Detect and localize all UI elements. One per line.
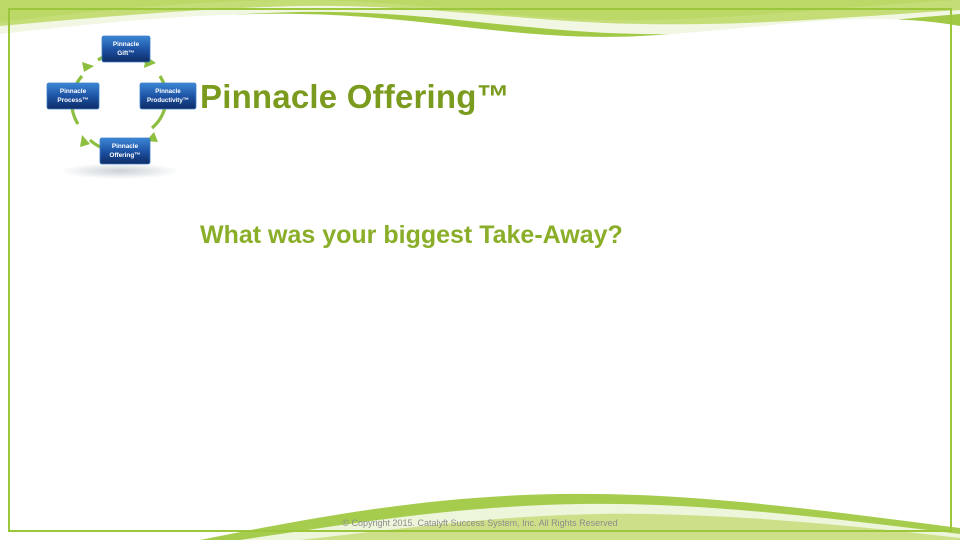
diagram-node-offering-line2: Offering™ — [109, 152, 140, 159]
diagram-node-gift-line1: Pinnacle — [113, 41, 140, 48]
diagram-node-process: Pinnacle Process™ — [47, 83, 99, 109]
pinnacle-cycle-diagram: Pinnacle Gift™ Pinnacle Productivity™ Pi… — [40, 28, 200, 183]
diagram-node-gift: Pinnacle Gift™ — [102, 36, 150, 62]
slide-title: Pinnacle Offering™ — [200, 78, 900, 116]
diagram-node-offering-line1: Pinnacle — [112, 143, 139, 150]
diagram-node-process-line1: Pinnacle — [60, 88, 87, 95]
diagram-node-productivity-line1: Pinnacle — [155, 88, 181, 95]
diagram-node-offering: Pinnacle Offering™ — [100, 138, 150, 164]
diagram-shadow — [60, 163, 180, 179]
slide-question-text: What was your biggest Take-Away? — [200, 221, 900, 250]
diagram-node-process-line2: Process™ — [57, 97, 88, 104]
copyright-footer: © Copyright 2015. Catalyft Success Syste… — [0, 518, 960, 528]
diagram-node-productivity-line2: Productivity™ — [147, 97, 189, 104]
diagram-node-productivity: Pinnacle Productivity™ — [140, 83, 196, 109]
slide-canvas: Pinnacle Gift™ Pinnacle Productivity™ Pi… — [0, 0, 960, 540]
diagram-node-gift-line2: Gift™ — [117, 50, 134, 57]
